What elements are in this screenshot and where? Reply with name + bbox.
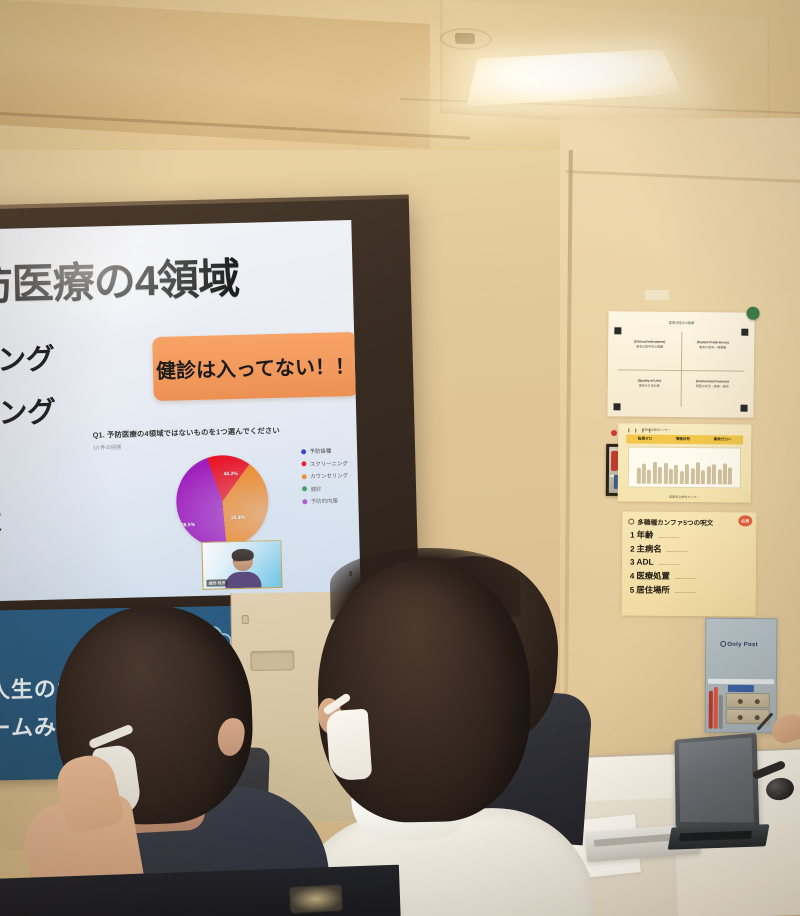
participant-name-label: 講師 発表 <box>206 579 227 587</box>
laptop-lid <box>675 733 760 829</box>
legend-label: スクリーニング <box>310 459 348 468</box>
poll-response-count: 13 件の回答 <box>93 439 280 452</box>
spell-item-number: 2 <box>630 545 635 554</box>
spell-item-label: 年齢 <box>637 529 654 541</box>
legend-swatch-icon <box>301 449 306 454</box>
legend-swatch-icon <box>302 499 307 504</box>
spell-item-note: ―――― ―――― <box>675 576 696 579</box>
spell-item-note: ―――― ―――― <box>658 536 679 539</box>
spell-item-label: ADL <box>636 557 653 567</box>
spell-item-4: 4医療処置―――― ―――― <box>630 569 751 582</box>
poster-people-illustration <box>628 447 741 489</box>
pie-label-red: 15.4% <box>231 515 245 521</box>
illustration-person <box>680 471 684 484</box>
legend-item-3: カウンセリング <box>302 471 348 480</box>
laptop-screen <box>679 737 754 822</box>
slide-bullet-4: 投 <box>0 495 59 539</box>
participant-hair <box>232 549 254 562</box>
spell-poster-title: 多職種カンファ5つの呪文 <box>637 517 713 528</box>
spell-item-3: 3ADL―――― ―――― <box>630 557 751 568</box>
cabinet-handle-slot[interactable] <box>250 650 294 671</box>
illustration-person <box>642 464 646 484</box>
display-screen: 防医療の4領域 ニング リング 重 投 健診は入ってない！！ Q1. 予防医療の… <box>0 220 361 601</box>
poll-pie-chart: 46.2% 15.4% 38.5% <box>175 454 269 548</box>
pie-label-purple: 46.2% <box>224 471 238 477</box>
poster-band-item-1: 転倒ゼロ <box>638 437 652 442</box>
slide-bullet-1: ニング <box>0 336 55 380</box>
illustration-person <box>728 467 732 484</box>
ceiling-slab <box>0 0 430 149</box>
slide-title: 防医療の4領域 <box>0 245 240 313</box>
slide-callout-banner: 健診は入ってない！！ <box>152 332 359 401</box>
spell-item-1: 1年齢―――― ―――― <box>630 529 751 542</box>
pie-legend: 予防接種スクリーニングカウンセリング健診予防的内服 <box>301 446 349 506</box>
legend-label: カウンセリング <box>310 471 348 480</box>
legend-swatch-icon <box>301 461 306 466</box>
spell-item-5: 5居住場所―――― ―――― <box>630 583 751 596</box>
spell-item-label: 医療処置 <box>636 569 670 581</box>
spell-item-number: 1 <box>630 531 635 540</box>
illustration-person <box>701 470 705 484</box>
legend-swatch-icon <box>302 474 307 479</box>
participant-torso <box>225 571 261 588</box>
spell-item-note: ―――― ―――― <box>667 550 688 553</box>
slide-bullet-2: リング <box>0 389 56 433</box>
wall-sticker-red <box>611 430 617 436</box>
foreground-emblem <box>289 885 342 914</box>
poster-band-item-2: 情報共有 <box>676 437 690 442</box>
open-laptop[interactable] <box>666 734 766 849</box>
legend-label: 予防的内服 <box>311 497 338 506</box>
illustration-person <box>685 464 689 484</box>
illustration-person <box>723 463 727 484</box>
photo-scene: 防医療の4領域 ニング リング 重 投 健診は入ってない！！ Q1. 予防医療の… <box>0 0 800 916</box>
quadrant-cell-4-jp: 周囲の状況・家族・経済 <box>682 384 743 389</box>
spell-poster-header: 多職種カンファ5つの呪文 <box>628 517 750 528</box>
video-call-tile[interactable]: 講師 発表 <box>201 540 282 590</box>
pie-graphic <box>175 454 269 548</box>
legend-item-1: 予防接種 <box>301 446 347 455</box>
illustration-person <box>712 464 716 484</box>
file-holder-brand: Only Post <box>720 641 758 648</box>
file-label-tab <box>728 685 754 692</box>
file-box <box>726 693 770 708</box>
poster-tape <box>645 290 669 300</box>
quadrant-cell-3: (Quality of Life) 患者の生活の質 <box>619 370 680 407</box>
illustration-person <box>669 469 673 484</box>
legend-label: 予防接種 <box>310 447 332 456</box>
poster-five-spells: 多職種カンファ5つの呪文 必見 1年齢―――― ――――2主病名―――― ―――… <box>622 512 757 617</box>
poster-footer-text: 医療安全推進センター <box>618 494 751 499</box>
poster-safety-campaign: 医療安全推進センター 転倒ゼロ 情報共有 事故ゼロへ 医療安全推進センター <box>618 423 752 502</box>
quadrant-cell-1: (Clinical Indications) 患者の医学的な問題 <box>619 331 680 368</box>
quadrant-cell-3-jp: 患者の生活の質 <box>619 383 680 388</box>
attendee-center-face-mask <box>326 709 373 782</box>
poster-band-item-3: 事故ゼロへ <box>713 437 731 442</box>
illustration-person <box>636 468 640 484</box>
poster-quadrant-framework: 意思決定の4領域 (Clinical Indications) 患者の医学的な問… <box>607 311 754 418</box>
spell-item-label: 主病名 <box>637 543 662 555</box>
illustration-person <box>663 463 667 484</box>
quadrant-grid: (Clinical Indications) 患者の医学的な問題 (Patien… <box>618 331 745 407</box>
poll-question-block: Q1. 予防医療の4領域ではないものを1つ選んでください 13 件の回答 <box>92 425 280 452</box>
spell-item-number: 3 <box>630 558 635 567</box>
slide-bullet-3: 重 <box>0 442 57 486</box>
pie-label-orange: 38.5% <box>181 522 195 528</box>
spell-item-note: ―――― ―――― <box>659 563 680 566</box>
poster-tick-row: 医療安全推進センター <box>628 429 741 434</box>
spell-item-number: 4 <box>630 571 635 580</box>
spell-item-label: 居住場所 <box>636 583 670 595</box>
spell-poster-badge: 必見 <box>738 515 752 526</box>
poster-headline-band: 転倒ゼロ 情報共有 事故ゼロへ <box>626 434 743 444</box>
spell-poster-list: 1年齢―――― ――――2主病名―――― ――――3ADL―――― ――――4医… <box>630 529 751 597</box>
illustration-person <box>653 462 657 484</box>
brand-circle-icon <box>720 641 726 647</box>
ceiling-vent-core <box>455 33 476 44</box>
legend-item-2: スクリーニング <box>301 459 347 468</box>
circle-bullet-icon <box>628 519 634 525</box>
file-holder-brand-text: Only Post <box>727 642 758 648</box>
legend-swatch-icon <box>302 486 307 491</box>
legend-label: 健診 <box>310 485 321 493</box>
slide-bullet-list: ニング リング 重 投 <box>0 336 59 539</box>
cabinet-knob[interactable] <box>242 615 249 624</box>
pen-cluster <box>709 685 724 729</box>
poll-question-text: Q1. 予防医療の4領域ではないものを1つ選んでください <box>92 425 279 441</box>
quadrant-poster-title: 意思決定の4領域 <box>608 319 754 326</box>
slide-callout-text: 健診は入ってない！！ <box>156 349 356 383</box>
spell-item-note: ―――― ―――― <box>675 591 696 594</box>
quadrant-cell-1-jp: 患者の医学的な問題 <box>619 344 680 349</box>
poster-tick-caption: 医療安全推進センター <box>642 428 670 432</box>
illustration-person <box>690 468 694 484</box>
legend-item-4: 健診 <box>302 484 348 493</box>
quadrant-cell-2: (Patient Preferences) 患者の意向・価値観 <box>682 332 743 369</box>
illustration-person <box>674 465 678 484</box>
illustration-person <box>658 467 662 484</box>
illustration-person <box>717 469 721 484</box>
pushpin-icon <box>746 307 759 320</box>
spell-item-number: 5 <box>630 585 635 594</box>
spell-item-2: 2主病名―――― ―――― <box>630 543 751 556</box>
illustration-person <box>647 470 651 484</box>
legend-item-5: 予防的内服 <box>302 497 348 506</box>
quadrant-cell-2-jp: 患者の意向・価値観 <box>682 345 743 350</box>
file-holder-lip <box>708 679 774 684</box>
quadrant-cell-4: (Contextual Features) 周囲の状況・家族・経済 <box>682 371 743 408</box>
illustration-person <box>696 462 700 484</box>
illustration-person <box>707 466 711 484</box>
